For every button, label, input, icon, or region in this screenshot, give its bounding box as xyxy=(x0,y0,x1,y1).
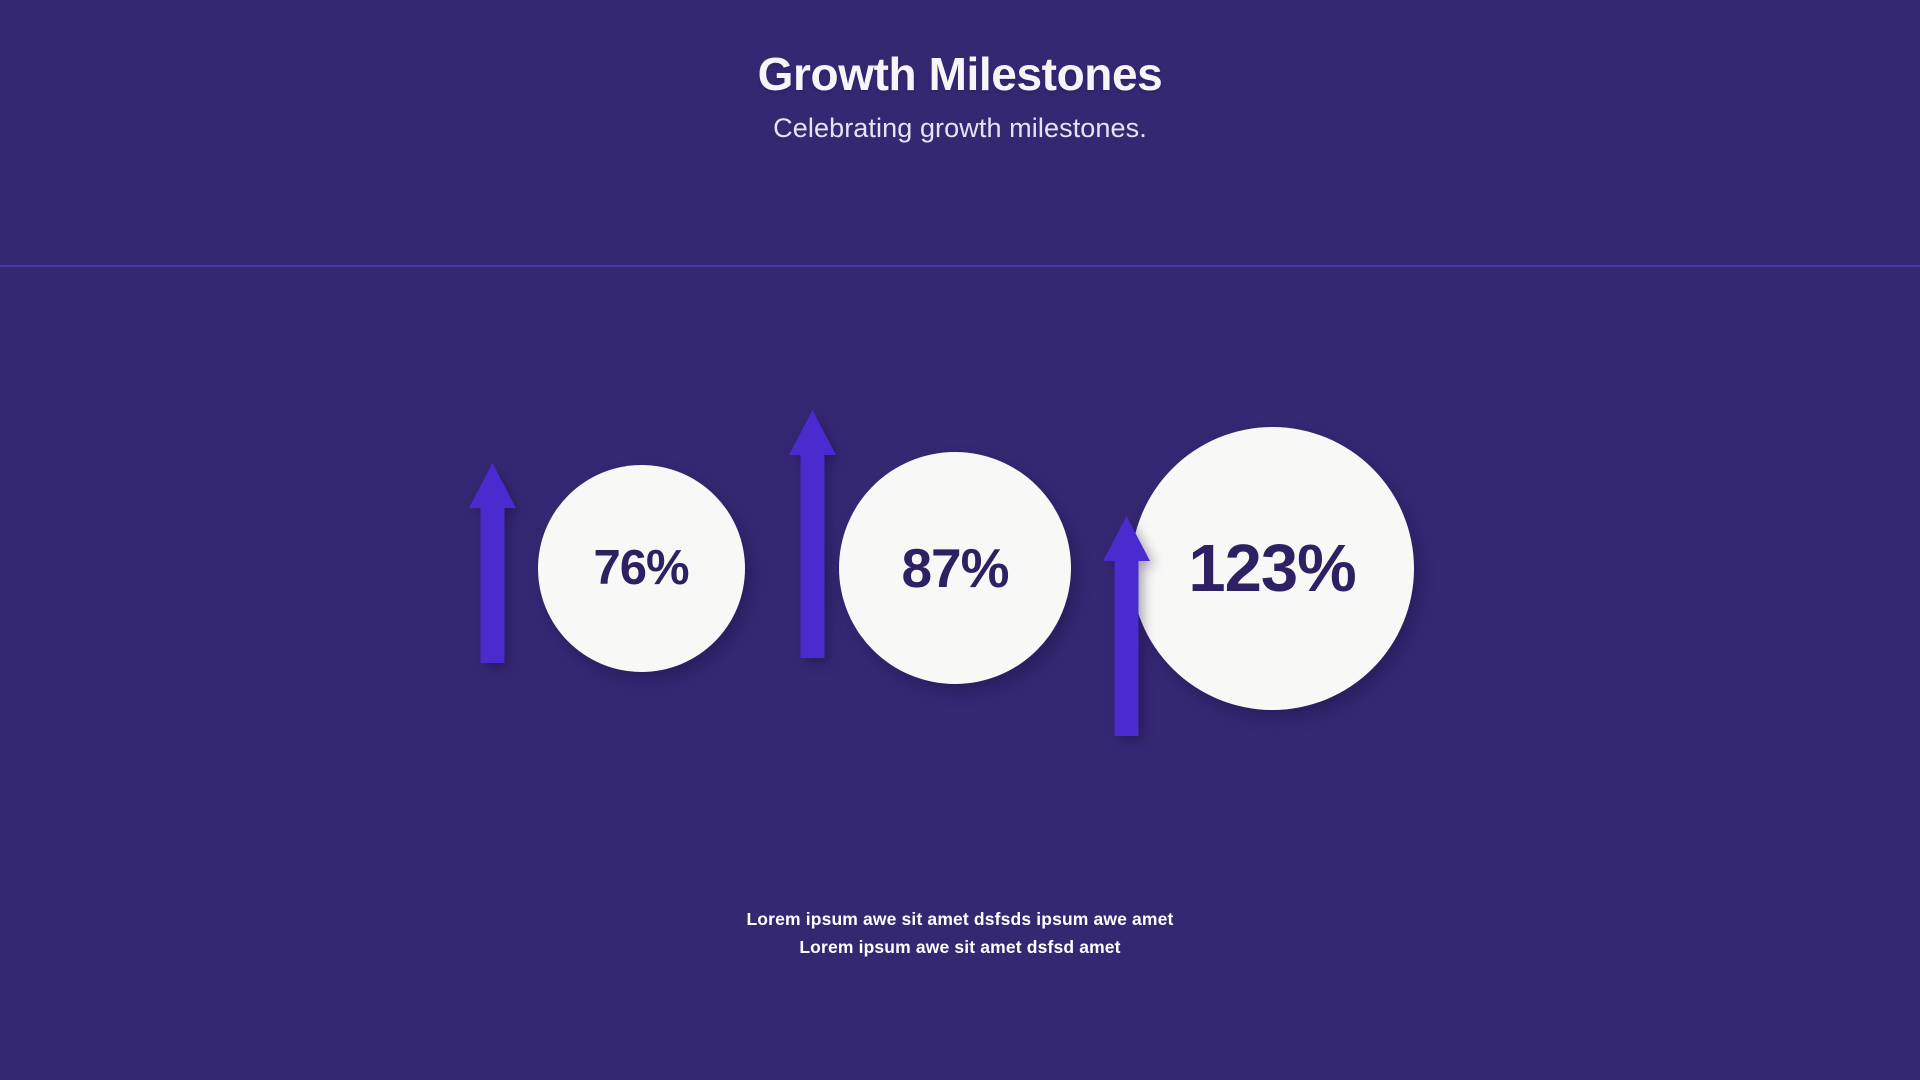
metric-value-label: 123% xyxy=(1188,535,1355,602)
metric-bubble[interactable]: 87% xyxy=(839,452,1071,684)
page-subtitle: Celebrating growth milestones. xyxy=(0,113,1920,144)
footer-line: Lorem ipsum awe sit amet dsfsd amet xyxy=(0,933,1920,961)
footer-line: Lorem ipsum awe sit amet dsfsds ipsum aw… xyxy=(0,905,1920,933)
page-title: Growth Milestones xyxy=(0,47,1920,101)
metric-value-label: 87% xyxy=(901,541,1008,596)
header-banner: Growth Milestones Celebrating growth mil… xyxy=(0,0,1920,267)
footer-note: Lorem ipsum awe sit amet dsfsds ipsum aw… xyxy=(0,905,1920,961)
growth-arrow-up-icon xyxy=(469,463,516,663)
metric-bubble[interactable]: 123% xyxy=(1131,427,1414,710)
growth-arrow-up-icon xyxy=(1103,516,1150,736)
metric-value-label: 76% xyxy=(593,544,688,593)
growth-arrow-up-icon xyxy=(789,410,836,658)
metric-bubble[interactable]: 76% xyxy=(538,465,745,672)
